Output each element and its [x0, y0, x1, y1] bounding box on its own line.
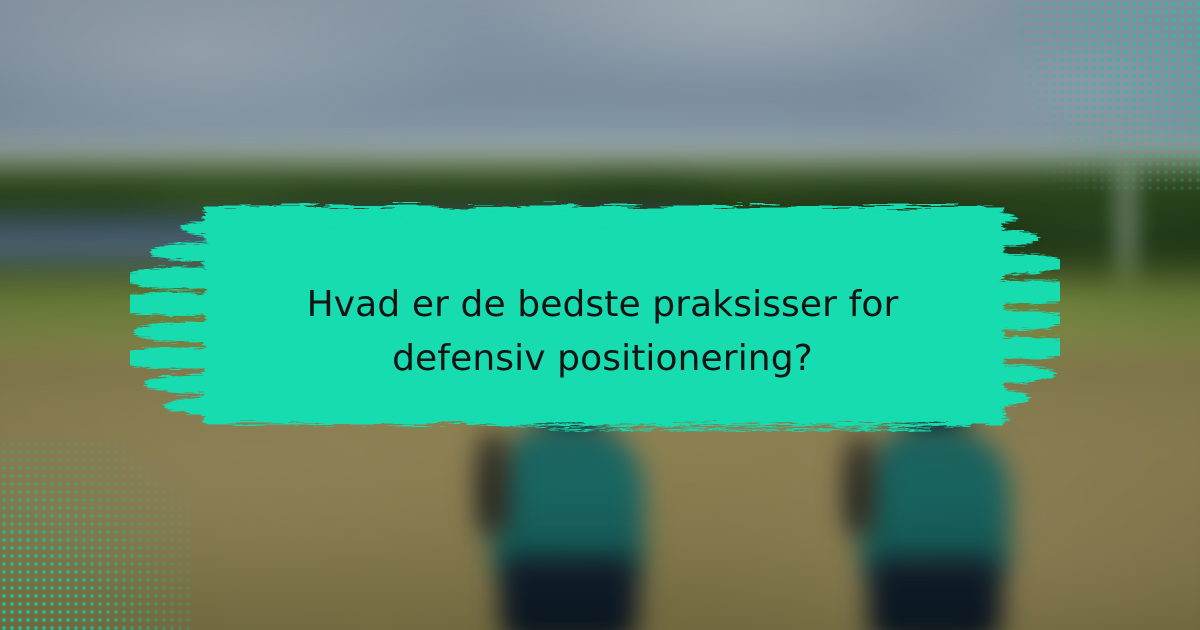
social-card: Hvad er de bedste praksisser for defensi… [0, 0, 1200, 630]
headline-banner: Hvad er de bedste praksisser for defensi… [130, 192, 1060, 440]
page-title: Hvad er de bedste praksisser for defensi… [225, 278, 980, 386]
